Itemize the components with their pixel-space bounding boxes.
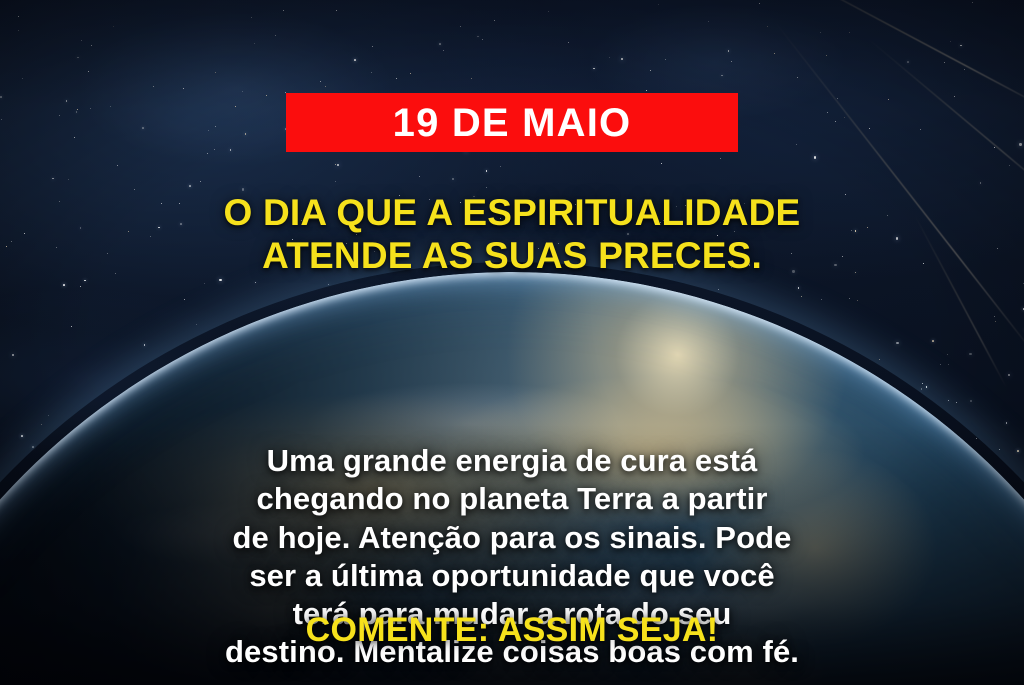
body-line-3: de hoje. Atenção para os sinais. Pode [62, 519, 962, 557]
call-to-action-text: COMENTE: ASSIM SEJA! [0, 612, 1024, 649]
headline: O DIA QUE A ESPIRITUALIDADE ATENDE AS SU… [0, 191, 1024, 278]
content-layer: 19 DE MAIO O DIA QUE A ESPIRITUALIDADE A… [0, 0, 1024, 685]
body-line-1: Uma grande energia de cura está [62, 442, 962, 480]
poster-canvas: 19 DE MAIO O DIA QUE A ESPIRITUALIDADE A… [0, 0, 1024, 685]
body-line-4: ser a última oportunidade que você [62, 557, 962, 595]
body-line-2: chegando no planeta Terra a partir [62, 480, 962, 518]
date-banner: 19 DE MAIO [286, 93, 738, 152]
headline-line-2: ATENDE AS SUAS PRECES. [0, 234, 1024, 277]
headline-line-1: O DIA QUE A ESPIRITUALIDADE [0, 191, 1024, 234]
date-banner-text: 19 DE MAIO [393, 103, 632, 143]
